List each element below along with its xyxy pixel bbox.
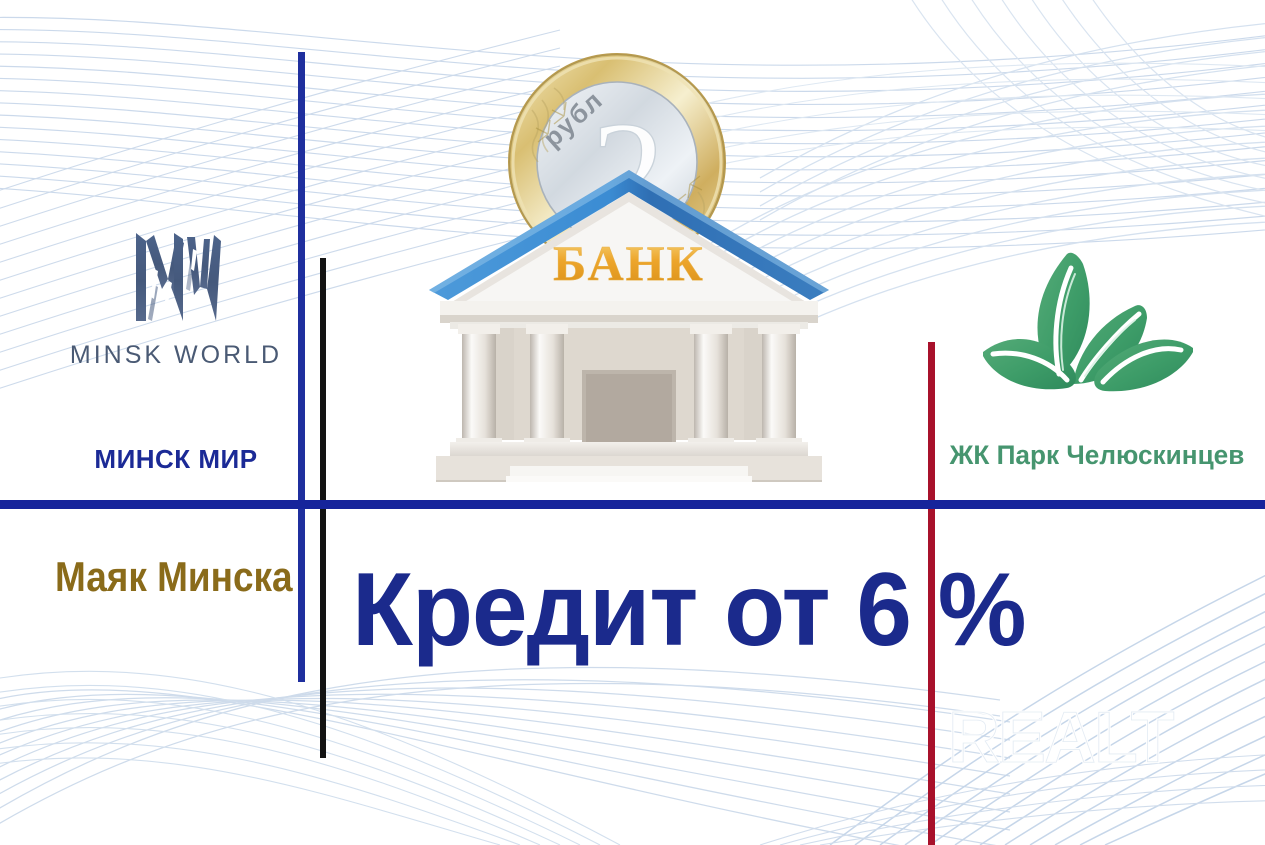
minsk-world-logo-block: MINSK WORLD <box>60 225 292 370</box>
green-leaves-icon <box>975 248 1200 418</box>
mw-monogram-icon <box>124 225 228 329</box>
page-title: Кредит от 6 % <box>352 558 1026 662</box>
park-chelyuskintsev-caption: ЖК Парк Челюскинцев <box>941 440 1253 471</box>
mayak-minska-caption: Маяк Минска <box>55 553 275 601</box>
realt-watermark: REALT REALT <box>948 700 1208 780</box>
promo-poster: MINSK WORLD МИНСК МИР Маяк Минска <box>0 0 1265 845</box>
divider-vertical-blue <box>298 52 305 682</box>
divider-horizontal-blue <box>0 500 1265 509</box>
minsk-mir-caption: МИНСК МИР <box>60 444 292 475</box>
bank-building-illustration: 2 рубл БАНК <box>414 52 844 482</box>
svg-text:REALT: REALT <box>948 700 1175 778</box>
minsk-world-wordmark: MINSK WORLD <box>60 341 292 370</box>
realt-watermark-text: REALT <box>948 700 1175 778</box>
bank-sign-text: БАНК <box>553 235 705 291</box>
bank-base <box>436 442 822 482</box>
